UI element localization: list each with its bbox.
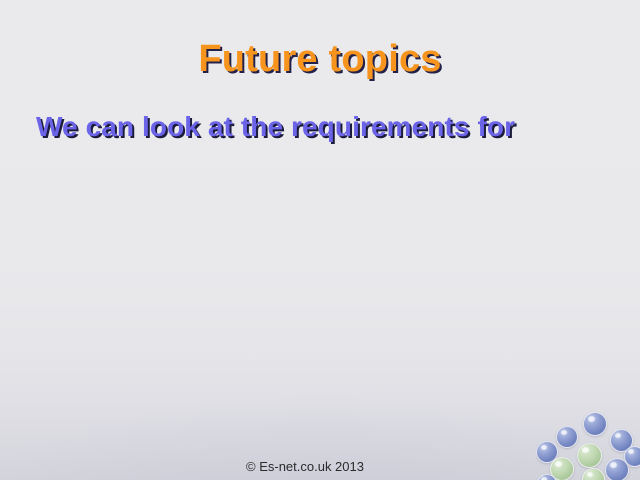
slide-subtitle: We can look at the requirements for xyxy=(36,111,515,143)
slide-body-content xyxy=(36,160,604,430)
decorative-sphere-blue xyxy=(610,429,633,452)
decorative-sphere-blue xyxy=(537,474,557,480)
slide-footer-copyright: © Es-net.co.uk 2013 xyxy=(0,459,610,474)
slide-title: Future topics xyxy=(0,38,640,81)
decorative-sphere-blue xyxy=(624,446,640,467)
presentation-slide: Future topics We can look at the require… xyxy=(0,0,640,480)
